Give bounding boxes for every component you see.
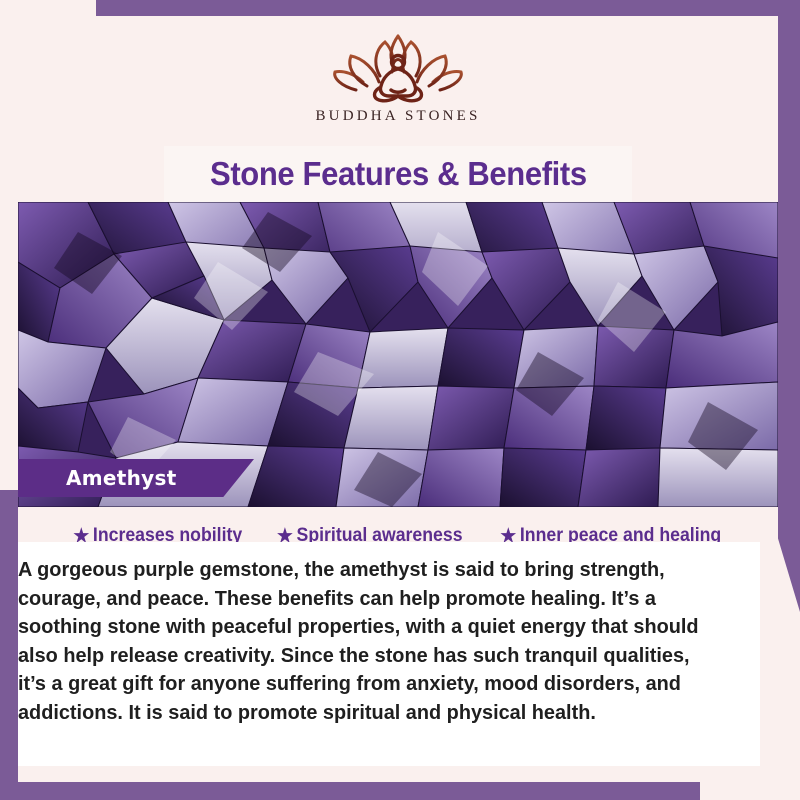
title-band: Stone Features & Benefits — [164, 146, 632, 202]
stone-name-label: Amethyst — [66, 466, 177, 490]
brand-logo-block: BUDDHA STONES — [18, 16, 778, 142]
stone-info-card: BUDDHA STONES Stone Features & Benefits — [0, 0, 800, 800]
frame-left-bar — [0, 490, 18, 800]
frame-top-bar — [96, 0, 800, 16]
frame-right-bar — [778, 0, 800, 612]
stone-name-banner: Amethyst — [18, 459, 254, 497]
frame-bottom-cutout — [700, 782, 800, 800]
lotus-meditation-figure-icon — [323, 28, 473, 106]
brand-name: BUDDHA STONES — [315, 108, 480, 125]
page-title: Stone Features & Benefits — [210, 155, 587, 193]
description-text: A gorgeous purple gemstone, the amethyst… — [18, 556, 720, 727]
frame-bottom-bar — [0, 782, 712, 800]
